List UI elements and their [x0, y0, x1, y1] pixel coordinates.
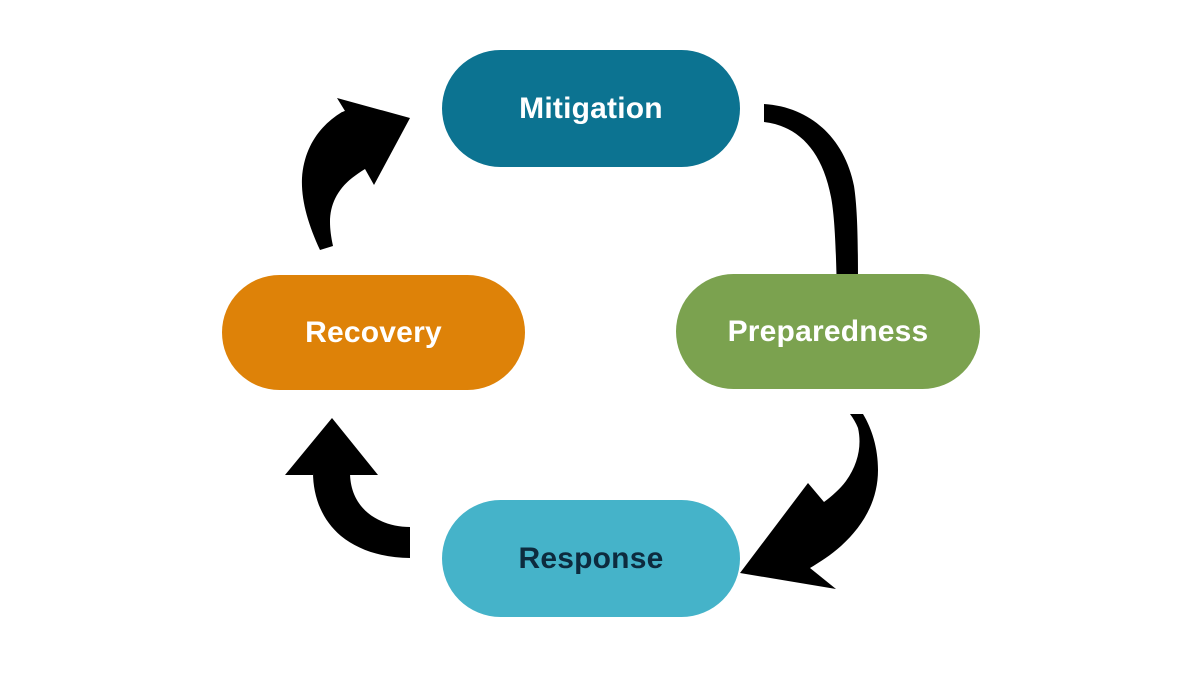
node-preparedness-label: Preparedness: [728, 317, 929, 347]
node-response-label: Response: [519, 544, 664, 574]
node-preparedness[interactable]: Preparedness: [676, 274, 980, 389]
emergency-management-cycle-diagram: Mitigation Preparedness Response Recover…: [0, 0, 1200, 676]
arrow-preparedness-to-response: [740, 414, 878, 589]
node-recovery-label: Recovery: [305, 318, 442, 348]
arrow-recovery-to-mitigation: [302, 98, 410, 250]
node-mitigation-label: Mitigation: [519, 94, 663, 124]
node-response[interactable]: Response: [442, 500, 740, 617]
node-mitigation[interactable]: Mitigation: [442, 50, 740, 167]
node-recovery[interactable]: Recovery: [222, 275, 525, 390]
arrow-response-to-recovery: [285, 418, 410, 558]
